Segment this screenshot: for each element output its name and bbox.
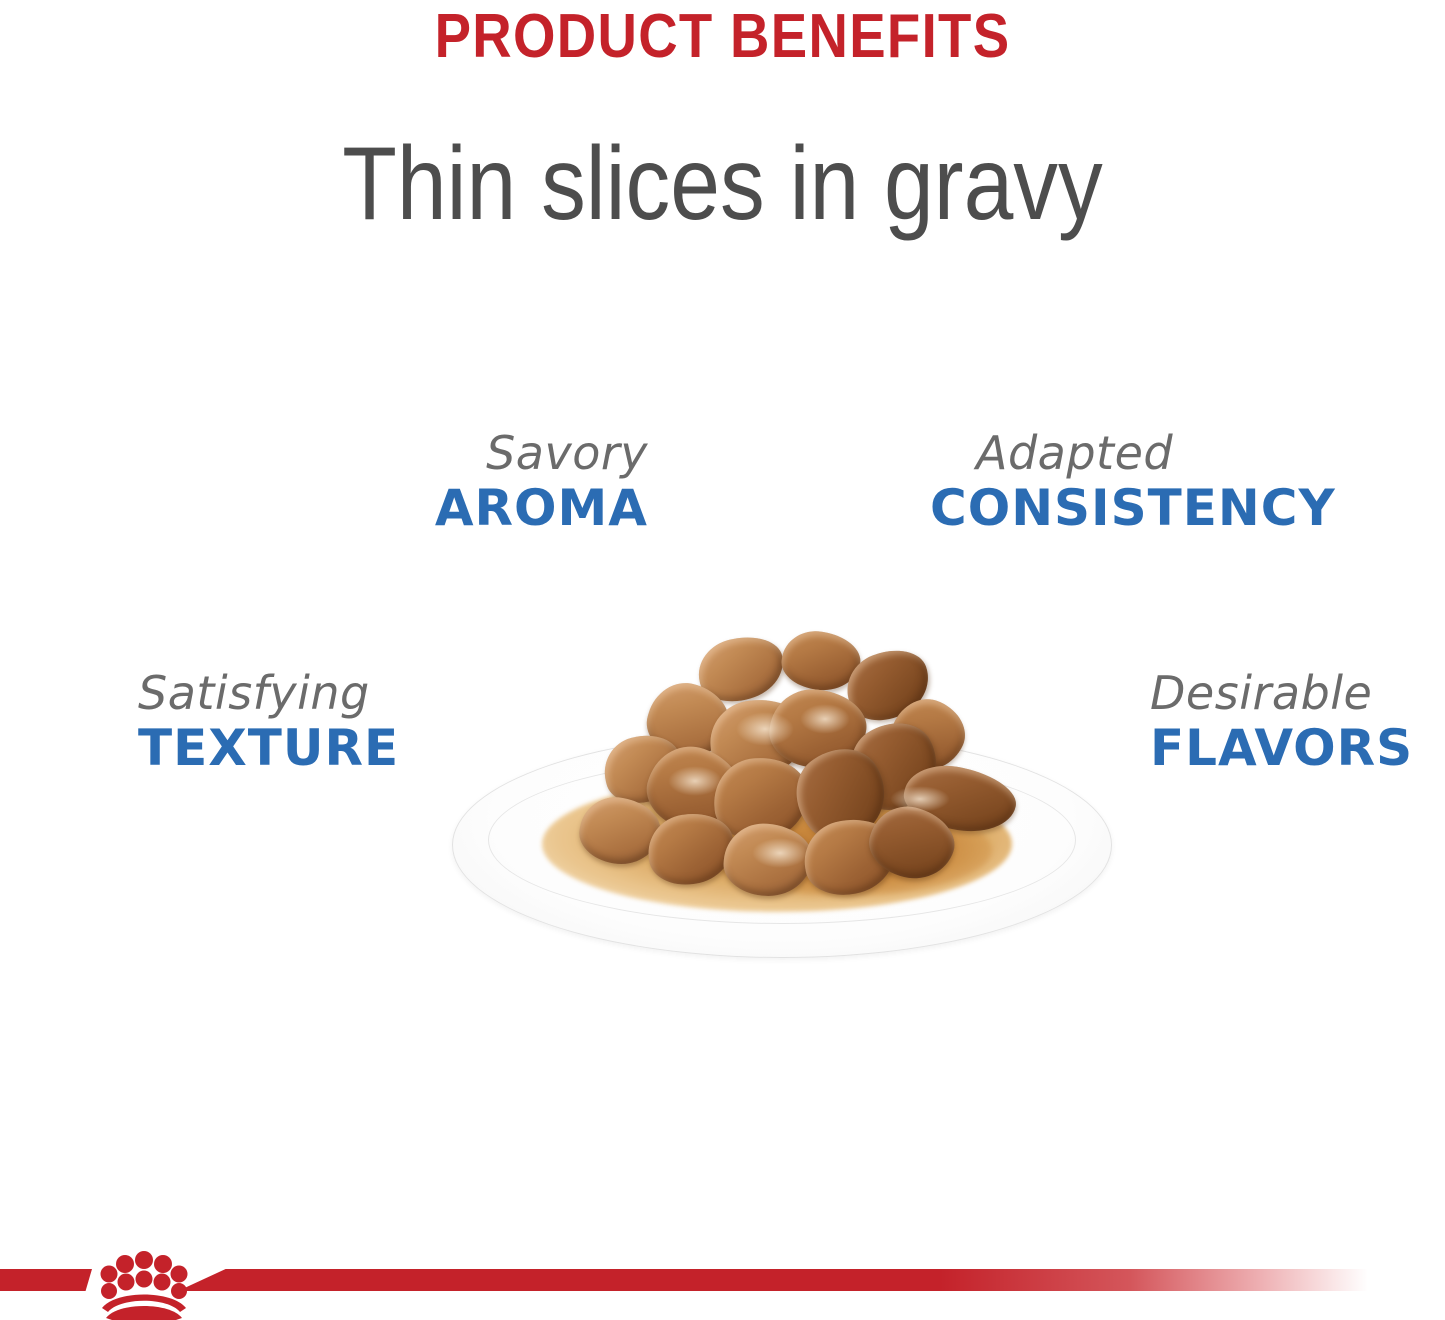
benefit-aroma-qualifier: Savory xyxy=(418,428,648,480)
benefit-flavors: Desirable FLAVORS xyxy=(1150,668,1445,777)
product-benefits-kicker: PRODUCT BENEFITS xyxy=(87,4,1359,69)
gravy-highlight xyxy=(736,712,794,746)
benefit-consistency-label: CONSISTENCY xyxy=(930,480,1350,537)
gravy-highlight xyxy=(890,786,950,812)
footer xyxy=(0,1248,1445,1320)
royal-canin-crown-logo xyxy=(96,1248,192,1320)
benefit-aroma-label: AROMA xyxy=(418,480,648,537)
benefit-texture-label: TEXTURE xyxy=(138,720,458,777)
page-title: Thin slices in gravy xyxy=(101,128,1344,240)
footer-stripe-right xyxy=(178,1269,1368,1291)
benefit-texture-qualifier: Satisfying xyxy=(138,668,458,720)
gravy-highlight xyxy=(800,704,850,734)
benefit-texture: Satisfying TEXTURE xyxy=(138,668,458,777)
gravy-highlight xyxy=(668,766,722,796)
product-benefits-panel: PRODUCT BENEFITS Thin slices in gravy Sa… xyxy=(0,0,1445,1320)
benefit-flavors-qualifier: Desirable xyxy=(1150,668,1445,720)
benefit-consistency-qualifier: Adapted xyxy=(930,428,1350,480)
footer-stripe-left xyxy=(0,1269,92,1291)
benefit-consistency: Adapted CONSISTENCY xyxy=(930,428,1350,537)
product-image xyxy=(452,608,1112,960)
benefit-flavors-label: FLAVORS xyxy=(1150,720,1445,777)
gravy-highlight xyxy=(752,838,808,868)
benefit-aroma: Savory AROMA xyxy=(418,428,648,537)
